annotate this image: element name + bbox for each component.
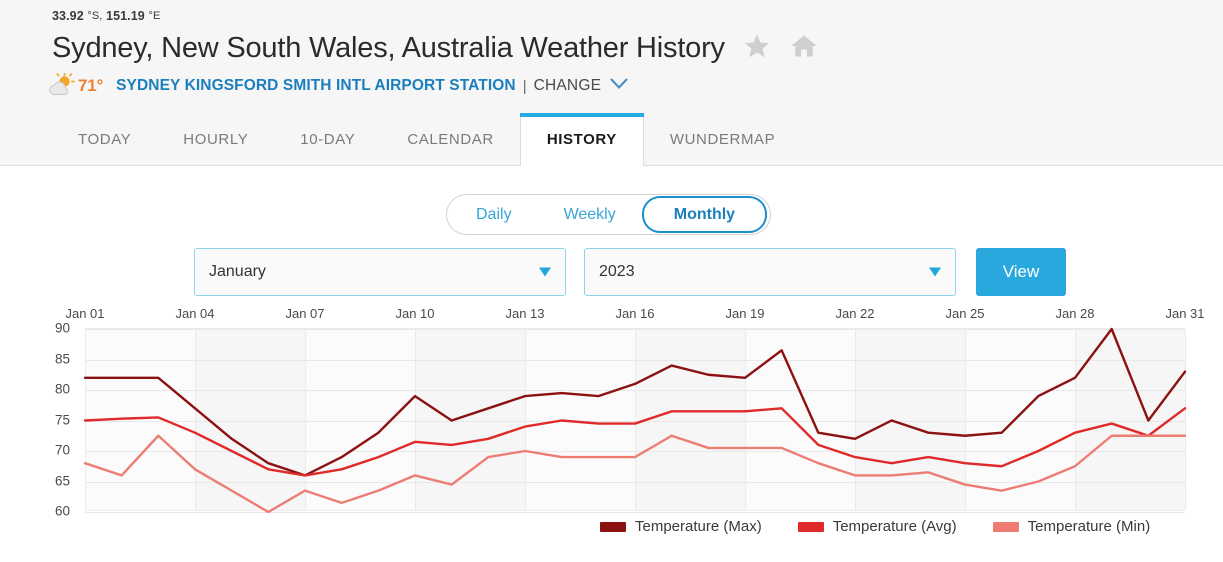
tab-hourly[interactable]: HOURLY: [157, 113, 274, 165]
legend-label: Temperature (Min): [1028, 518, 1151, 535]
x-tick-label: Jan 10: [395, 306, 434, 321]
weather-history-page: 33.92 °S, 151.19 °E Sydney, New South Wa…: [0, 0, 1223, 562]
x-tick-label: Jan 22: [835, 306, 874, 321]
interval-weekly[interactable]: Weekly: [538, 197, 642, 232]
interval-label: Weekly: [564, 206, 616, 224]
gridline-vertical: [1185, 329, 1186, 510]
y-tick-label: 75: [55, 412, 70, 427]
chevron-down-icon[interactable]: [609, 77, 629, 95]
sun-behind-cloud-icon: [46, 73, 76, 99]
y-tick-label: 85: [55, 351, 70, 366]
coordinates: 33.92 °S, 151.19 °E: [52, 9, 160, 23]
gridline-horizontal: [85, 512, 1185, 513]
interval-monthly[interactable]: Monthly: [642, 196, 767, 233]
interval-daily[interactable]: Daily: [450, 197, 538, 232]
series-line: [85, 329, 1185, 475]
separator: |: [523, 78, 527, 95]
x-tick-label: Jan 28: [1055, 306, 1094, 321]
legend-swatch: [798, 522, 824, 532]
legend-swatch: [600, 522, 626, 532]
legend-item[interactable]: Temperature (Min): [993, 518, 1151, 535]
series-line: [85, 408, 1185, 475]
y-axis-labels: 60657075808590: [0, 328, 80, 511]
latitude-unit: °S,: [87, 10, 102, 22]
series-line: [85, 436, 1185, 512]
caret-down-icon: [929, 268, 941, 277]
y-tick-label: 65: [55, 473, 70, 488]
title-row: Sydney, New South Wales, Australia Weath…: [52, 30, 819, 66]
tab-label: WUNDERMAP: [670, 131, 775, 148]
legend-swatch: [993, 522, 1019, 532]
x-tick-label: Jan 07: [285, 306, 324, 321]
tab-label: 10-DAY: [300, 131, 355, 148]
tab-label: TODAY: [78, 131, 131, 148]
station-row: 71° SYDNEY KINGSFORD SMITH INTL AIRPORT …: [46, 73, 629, 99]
current-temperature: 71°: [78, 76, 103, 96]
x-tick-label: Jan 13: [505, 306, 544, 321]
tab-today[interactable]: TODAY: [52, 113, 157, 165]
interval-toggle-group: Daily Weekly Monthly: [446, 194, 771, 235]
caret-down-icon: [539, 268, 551, 277]
date-selectors: January 2023 View: [194, 248, 1066, 296]
y-tick-label: 80: [55, 382, 70, 397]
page-title: Sydney, New South Wales, Australia Weath…: [52, 30, 725, 66]
main-tabs: TODAY HOURLY 10-DAY CALENDAR HISTORY WUN…: [0, 113, 1223, 166]
longitude-unit: °E: [148, 10, 160, 22]
tab-history[interactable]: HISTORY: [520, 113, 644, 166]
tab-label: HISTORY: [547, 131, 617, 148]
x-tick-label: Jan 01: [65, 306, 104, 321]
home-icon[interactable]: [789, 32, 819, 65]
tab-10-day[interactable]: 10-DAY: [274, 113, 381, 165]
tab-calendar[interactable]: CALENDAR: [381, 113, 520, 165]
station-name-link[interactable]: SYDNEY KINGSFORD SMITH INTL AIRPORT STAT…: [116, 77, 516, 95]
latitude-value: 33.92: [52, 9, 84, 23]
change-station-link[interactable]: CHANGE: [534, 77, 602, 95]
x-tick-label: Jan 31: [1165, 306, 1204, 321]
tab-label: CALENDAR: [407, 131, 494, 148]
x-axis-labels: Jan 01Jan 04Jan 07Jan 10Jan 13Jan 16Jan …: [0, 306, 1223, 328]
longitude-value: 151.19: [106, 9, 145, 23]
year-select[interactable]: 2023: [584, 248, 956, 296]
temperature-chart: Jan 01Jan 04Jan 07Jan 10Jan 13Jan 16Jan …: [0, 306, 1223, 562]
legend-item[interactable]: Temperature (Max): [600, 518, 762, 535]
year-select-value: 2023: [599, 263, 635, 281]
y-tick-label: 60: [55, 504, 70, 519]
month-select[interactable]: January: [194, 248, 566, 296]
series-lines: [85, 329, 1185, 512]
y-tick-label: 70: [55, 443, 70, 458]
history-body: Daily Weekly Monthly January 2023 View J…: [0, 166, 1223, 562]
star-icon[interactable]: [743, 32, 771, 65]
legend-item[interactable]: Temperature (Avg): [798, 518, 957, 535]
x-tick-label: Jan 25: [945, 306, 984, 321]
page-header: 33.92 °S, 151.19 °E Sydney, New South Wa…: [0, 0, 1223, 113]
chart-legend: Temperature (Max)Temperature (Avg)Temper…: [600, 518, 1150, 535]
y-tick-label: 90: [55, 321, 70, 336]
tab-wundermap[interactable]: WUNDERMAP: [644, 113, 801, 165]
interval-label: Monthly: [674, 206, 735, 224]
legend-label: Temperature (Avg): [833, 518, 957, 535]
plot-area: [85, 328, 1185, 511]
x-tick-label: Jan 16: [615, 306, 654, 321]
tab-label: HOURLY: [183, 131, 248, 148]
x-tick-label: Jan 04: [175, 306, 214, 321]
interval-label: Daily: [476, 206, 512, 224]
x-tick-label: Jan 19: [725, 306, 764, 321]
month-select-value: January: [209, 263, 266, 281]
legend-label: Temperature (Max): [635, 518, 762, 535]
view-button[interactable]: View: [976, 248, 1066, 296]
